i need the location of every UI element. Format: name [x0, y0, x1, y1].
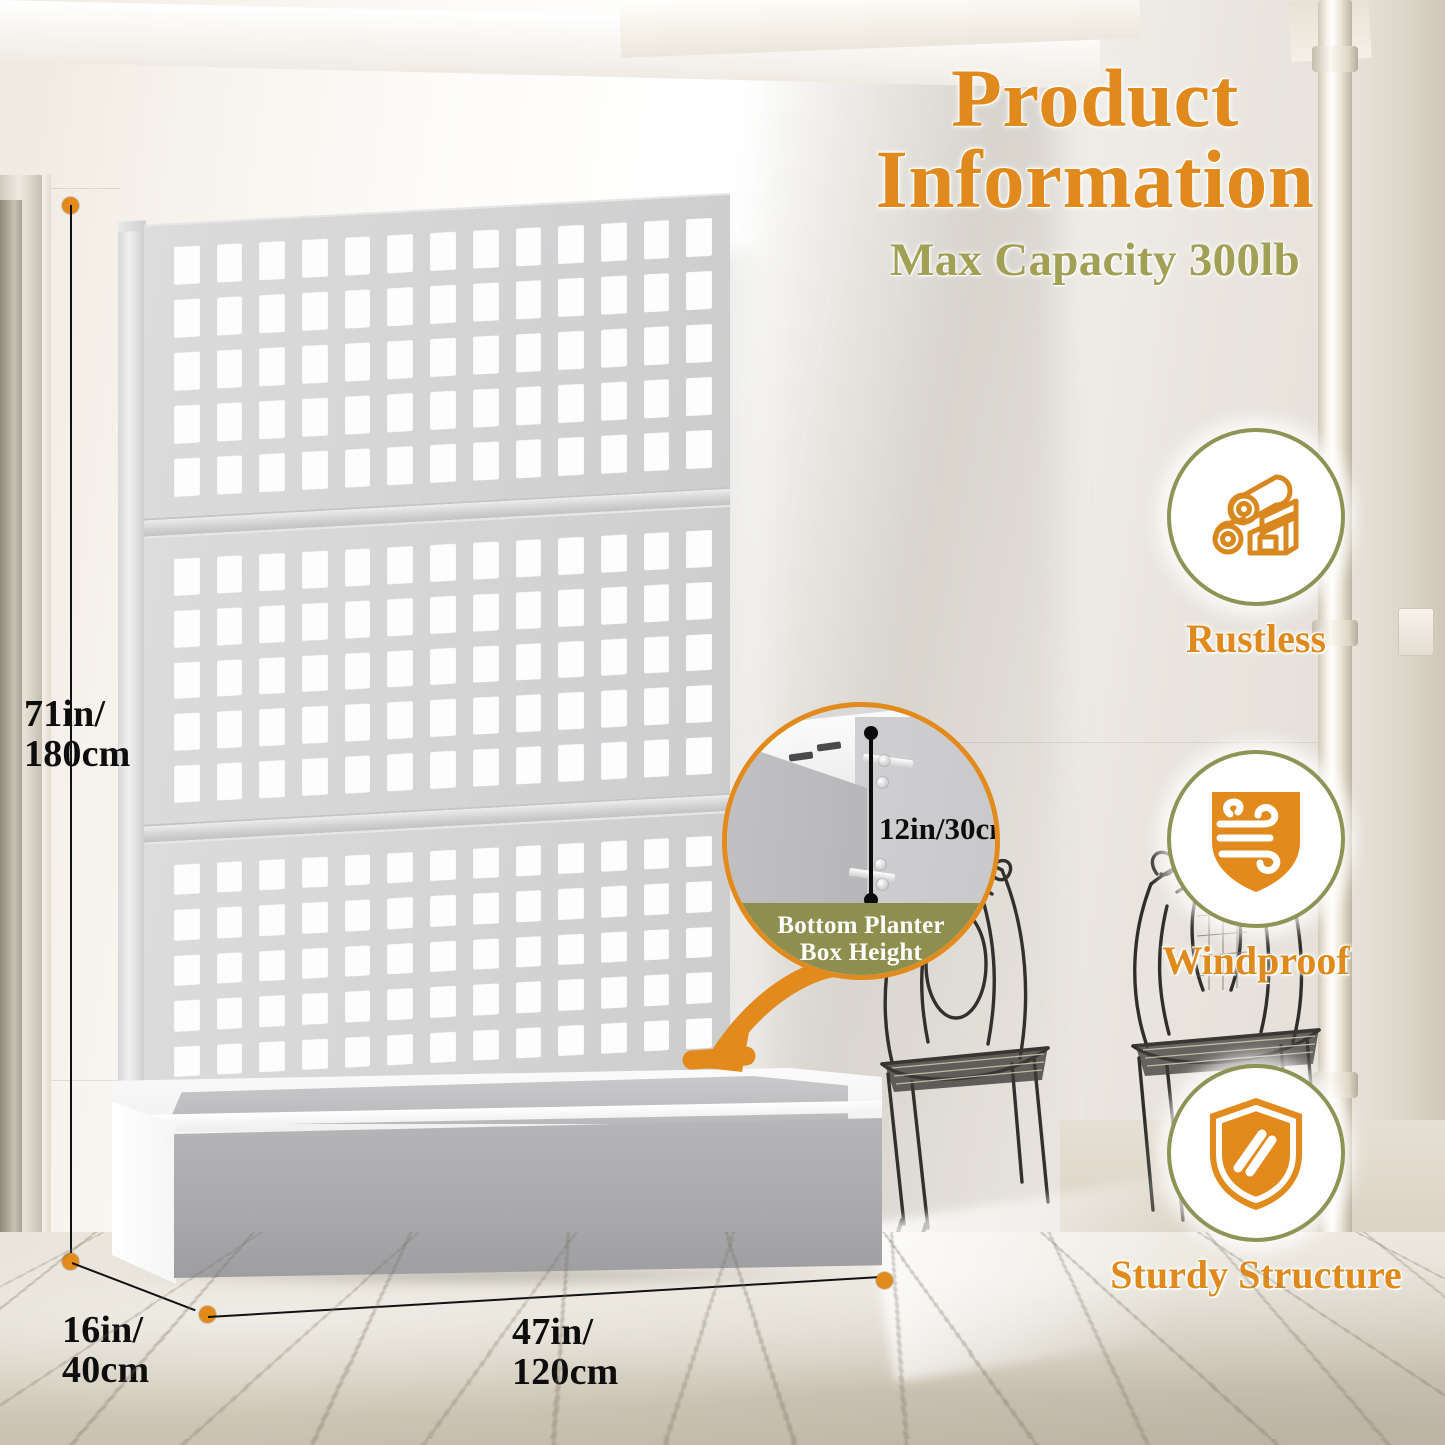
lattice-cell — [174, 458, 200, 497]
lattice-cell — [259, 453, 285, 492]
lattice-cell — [644, 838, 670, 870]
lattice-cell — [473, 697, 499, 735]
lattice-cell — [644, 929, 670, 961]
lattice-cell — [686, 324, 712, 363]
lattice-cell — [302, 654, 328, 692]
lattice-cell — [302, 292, 328, 331]
lattice-cell — [259, 950, 285, 982]
lattice-cell — [259, 605, 285, 643]
lattice-cell — [430, 1031, 456, 1063]
callout-screw — [877, 777, 888, 788]
lattice-cell — [302, 857, 328, 889]
lattice-cell — [473, 541, 499, 579]
lattice-cell — [345, 448, 371, 487]
lattice-cell — [430, 391, 456, 430]
lattice-cell — [259, 904, 285, 936]
lattice-cell — [558, 278, 584, 317]
lattice-cell — [174, 713, 200, 751]
lattice-cell — [387, 546, 413, 584]
lattice-cell — [473, 847, 499, 879]
lattice-cell — [217, 997, 243, 1029]
lattice-cell — [259, 859, 285, 891]
feature-label: Rustless — [1106, 615, 1406, 662]
lattice-cell — [217, 607, 243, 645]
lattice-cell — [473, 282, 499, 321]
lattice-cell — [430, 444, 456, 483]
lattice-cell — [516, 694, 542, 732]
lattice-cell — [174, 954, 200, 986]
lattice-cell — [601, 222, 627, 261]
lattice-cell — [174, 1000, 200, 1032]
lattice-cell — [601, 742, 627, 780]
lattice-cell — [430, 895, 456, 927]
trellis-panel-top — [144, 193, 730, 521]
lattice-cell — [686, 881, 712, 913]
lattice-cell — [345, 945, 371, 977]
trellis-post-cap — [118, 220, 146, 232]
lattice-grid — [174, 530, 712, 803]
depth-dim-line2: 40cm — [62, 1350, 149, 1390]
lattice-cell — [217, 455, 243, 494]
lattice-cell — [259, 294, 285, 333]
lattice-cell — [473, 229, 499, 268]
lattice-cell — [644, 739, 670, 777]
lattice-cell — [558, 692, 584, 730]
lattice-cell — [601, 840, 627, 872]
callout-screw — [879, 755, 890, 766]
lattice-cell — [174, 609, 200, 647]
lattice-cell — [387, 287, 413, 326]
lattice-cell — [644, 432, 670, 471]
lattice-cell — [302, 947, 328, 979]
lattice-cell — [558, 331, 584, 370]
lattice-cell — [387, 234, 413, 273]
lattice-cell — [217, 659, 243, 697]
lattice-cell — [601, 534, 627, 572]
lattice-cell — [387, 446, 413, 485]
lattice-cell — [601, 381, 627, 420]
lattice-cell — [387, 988, 413, 1020]
planter-pointer-arrow — [610, 960, 850, 1115]
lattice-cell — [259, 400, 285, 439]
lattice-cell — [686, 685, 712, 723]
width-dim-line2: 120cm — [512, 1352, 619, 1392]
lattice-cell — [686, 530, 712, 568]
lattice-cell — [558, 843, 584, 875]
lattice-cell — [345, 236, 371, 275]
lattice-cell — [686, 633, 712, 671]
lattice-cell — [473, 645, 499, 683]
lattice-cell — [259, 347, 285, 386]
lattice-cell — [601, 638, 627, 676]
lattice-cell — [558, 640, 584, 678]
lattice-grid — [174, 218, 712, 497]
lattice-cell — [644, 273, 670, 312]
lattice-cell — [473, 335, 499, 374]
lattice-cell — [387, 1034, 413, 1066]
lattice-cell — [644, 884, 670, 916]
lattice-cell — [302, 451, 328, 490]
lattice-cell — [516, 981, 542, 1013]
lattice-cell — [644, 326, 670, 365]
lattice-cell — [473, 938, 499, 970]
lattice-cell — [601, 275, 627, 314]
lattice-cell — [302, 902, 328, 934]
lattice-cell — [345, 342, 371, 381]
lattice-cell — [601, 690, 627, 728]
lattice-cell — [686, 218, 712, 257]
wind-shield-icon — [1200, 780, 1312, 898]
lattice-cell — [516, 227, 542, 266]
lattice-cell — [430, 699, 456, 737]
lattice-cell — [387, 897, 413, 929]
height-dim-line1: 71in/ — [24, 694, 131, 734]
lattice-cell — [516, 591, 542, 629]
lattice-cell — [516, 845, 542, 877]
lattice-cell — [516, 539, 542, 577]
feature-badge — [1167, 428, 1345, 606]
lattice-cell — [601, 931, 627, 963]
lattice-cell — [686, 377, 712, 416]
callout-screw — [875, 859, 886, 870]
lattice-cell — [558, 589, 584, 627]
lattice-cell — [558, 225, 584, 264]
lattice-cell — [345, 289, 371, 328]
feature-sturdy: Sturdy Structure — [1106, 1064, 1406, 1298]
trellis-left-post — [118, 220, 146, 1102]
lattice-cell — [302, 706, 328, 744]
lattice-cell — [345, 1036, 371, 1068]
lattice-cell — [558, 537, 584, 575]
lattice-cell — [302, 398, 328, 437]
lattice-cell — [686, 582, 712, 620]
lattice-cell — [387, 598, 413, 636]
lattice-cell — [217, 243, 243, 282]
lattice-cell — [217, 555, 243, 593]
lattice-cell — [387, 650, 413, 688]
lattice-cell — [430, 595, 456, 633]
lattice-cell — [558, 437, 584, 476]
lattice-cell — [174, 246, 200, 285]
lattice-cell — [345, 854, 371, 886]
lattice-cell — [174, 299, 200, 338]
lattice-cell — [516, 333, 542, 372]
lattice-cell — [387, 393, 413, 432]
width-dim-line1: 47in/ — [512, 1312, 619, 1352]
lattice-cell — [473, 1029, 499, 1061]
lattice-cell — [430, 338, 456, 377]
lattice-cell — [174, 864, 200, 896]
callout-dim-line — [869, 733, 873, 899]
lattice-cell — [430, 544, 456, 582]
lattice-cell — [686, 737, 712, 775]
lattice-cell — [601, 586, 627, 624]
lattice-cell — [430, 850, 456, 882]
lattice-cell — [217, 907, 243, 939]
lattice-cell — [345, 548, 371, 586]
width-dim-dot — [876, 1272, 893, 1289]
lattice-cell — [217, 762, 243, 800]
lattice-cell — [558, 1024, 584, 1056]
lattice-cell — [473, 984, 499, 1016]
feature-badge — [1167, 750, 1345, 928]
lattice-cell — [259, 995, 285, 1027]
lattice-cell — [174, 765, 200, 803]
lattice-cell — [644, 532, 670, 570]
planter-box-side — [112, 1102, 176, 1284]
lattice-cell — [430, 285, 456, 324]
depth-dim-line1: 16in/ — [62, 1310, 149, 1350]
height-dim-line2: 180cm — [24, 734, 131, 774]
lumber-logs-icon — [1200, 461, 1312, 573]
callout-measurement-label: 12in/30cm — [879, 811, 1000, 847]
lattice-cell — [686, 927, 712, 959]
lattice-cell — [644, 636, 670, 674]
lattice-cell — [174, 661, 200, 699]
lattice-cell — [259, 657, 285, 695]
lattice-cell — [217, 711, 243, 749]
lattice-cell — [174, 405, 200, 444]
trellis-panel-middle — [144, 505, 730, 827]
page-title-block: Product Information Max Capacity 300lb — [760, 58, 1430, 287]
page-subtitle: Max Capacity 300lb — [760, 233, 1430, 287]
lattice-cell — [430, 751, 456, 789]
planter-height-callout: 12in/30cm Bottom Planter Box Height — [722, 702, 1000, 980]
lattice-cell — [516, 936, 542, 968]
height-dim-dot-bottom — [62, 1253, 79, 1270]
lattice-cell — [644, 688, 670, 726]
lattice-cell — [259, 708, 285, 746]
lattice-cell — [217, 402, 243, 441]
lattice-cell — [387, 852, 413, 884]
lattice-cell — [516, 280, 542, 319]
lattice-cell — [473, 893, 499, 925]
callout-screw — [877, 879, 888, 890]
lattice-cell — [430, 647, 456, 685]
lattice-cell — [387, 753, 413, 791]
lattice-cell — [302, 758, 328, 796]
feature-windproof: Windproof — [1106, 750, 1406, 984]
lattice-cell — [473, 388, 499, 427]
callout-caption-band: Bottom Planter Box Height — [727, 903, 995, 975]
lattice-cell — [516, 890, 542, 922]
lattice-cell — [302, 1038, 328, 1070]
height-dim-label: 71in/ 180cm — [24, 694, 131, 775]
lattice-cell — [259, 241, 285, 280]
lattice-cell — [516, 386, 542, 425]
lattice-cell — [387, 340, 413, 379]
lattice-cell — [345, 600, 371, 638]
feature-label: Sturdy Structure — [1106, 1251, 1406, 1298]
lattice-cell — [558, 384, 584, 423]
lattice-cell — [686, 271, 712, 310]
width-dim-label: 47in/ 120cm — [512, 1312, 619, 1393]
lattice-cell — [174, 558, 200, 596]
lattice-cell — [174, 352, 200, 391]
lattice-cell — [516, 1027, 542, 1059]
lattice-cell — [217, 296, 243, 335]
lattice-cell — [473, 593, 499, 631]
lattice-cell — [387, 701, 413, 739]
lattice-cell — [473, 749, 499, 787]
shield-stripes-icon — [1200, 1092, 1312, 1214]
lattice-cell — [259, 553, 285, 591]
lattice-cell — [601, 328, 627, 367]
callout-caption-line2: Box Height — [800, 939, 922, 967]
lattice-cell — [345, 991, 371, 1023]
lattice-cell — [345, 900, 371, 932]
lattice-cell — [516, 439, 542, 478]
lattice-cell — [302, 551, 328, 589]
lattice-cell — [558, 888, 584, 920]
feature-badge — [1167, 1064, 1345, 1242]
lattice-cell — [516, 746, 542, 784]
lattice-cell — [686, 836, 712, 868]
lattice-cell — [217, 861, 243, 893]
depth-dim-dot — [199, 1306, 216, 1323]
lattice-cell — [387, 943, 413, 975]
lattice-cell — [345, 756, 371, 794]
feature-rustless: Rustless — [1106, 428, 1406, 662]
lattice-cell — [259, 760, 285, 798]
page-title-line2: Information — [760, 139, 1430, 220]
page-title-line1: Product — [760, 58, 1430, 139]
lattice-cell — [430, 940, 456, 972]
lattice-cell — [345, 704, 371, 742]
lattice-cell — [644, 379, 670, 418]
lattice-cell — [601, 434, 627, 473]
lattice-cell — [345, 652, 371, 690]
planter-box-front — [174, 1118, 882, 1278]
lattice-cell — [302, 239, 328, 278]
feature-label: Windproof — [1106, 937, 1406, 984]
depth-dim-label: 16in/ 40cm — [62, 1310, 149, 1391]
lattice-cell — [558, 744, 584, 782]
lattice-cell — [644, 584, 670, 622]
lattice-cell — [516, 643, 542, 681]
lattice-cell — [686, 430, 712, 469]
lattice-cell — [302, 993, 328, 1025]
lattice-cell — [302, 602, 328, 640]
lattice-cell — [473, 441, 499, 480]
lattice-cell — [644, 220, 670, 259]
lattice-cell — [430, 232, 456, 271]
lattice-cell — [430, 986, 456, 1018]
lattice-cell — [174, 909, 200, 941]
lattice-cell — [558, 979, 584, 1011]
lattice-cell — [302, 345, 328, 384]
lattice-cell — [601, 886, 627, 918]
lattice-cell — [558, 934, 584, 966]
lattice-cell — [217, 952, 243, 984]
callout-caption-line1: Bottom Planter — [777, 912, 944, 940]
lattice-cell — [345, 395, 371, 434]
lattice-cell — [217, 349, 243, 388]
